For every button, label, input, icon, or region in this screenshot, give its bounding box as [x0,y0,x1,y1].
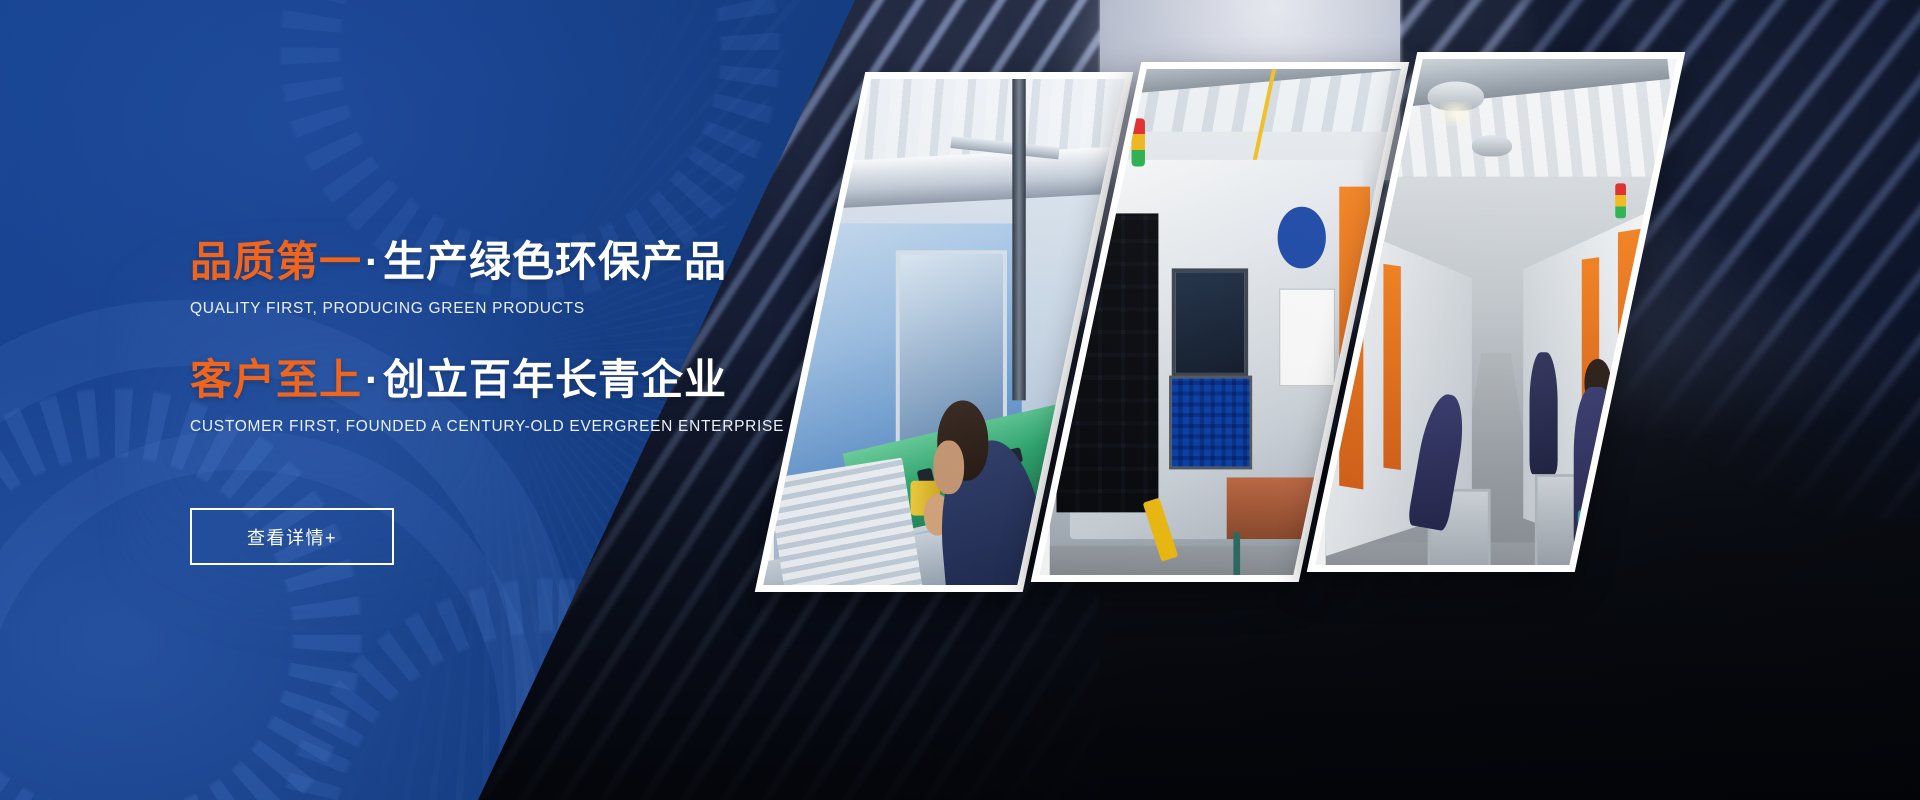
subtitle-primary: QUALITY FIRST, PRODUCING GREEN PRODUCTS [190,300,950,318]
headline-primary: 品质第一·生产绿色环保产品 [190,238,950,285]
headline-secondary-rest: 创立百年长青企业 [383,356,727,403]
headline-primary-accent: 品质第一 [190,238,362,285]
headline-secondary-separator: · [362,356,383,403]
headline-secondary-accent: 客户至上 [190,356,362,403]
view-details-button[interactable]: 查看详情+ [190,508,394,565]
headline-primary-rest: 生产绿色环保产品 [383,238,727,285]
headline-secondary: 客户至上·创立百年长青企业 [190,356,950,403]
subtitle-secondary: CUSTOMER FIRST, FOUNDED A CENTURY-OLD EV… [190,418,950,436]
hero-copy: 品质第一·生产绿色环保产品 QUALITY FIRST, PRODUCING G… [190,238,950,436]
headline-primary-separator: · [362,238,383,285]
hero-banner: 品质第一·生产绿色环保产品 QUALITY FIRST, PRODUCING G… [0,0,1920,800]
